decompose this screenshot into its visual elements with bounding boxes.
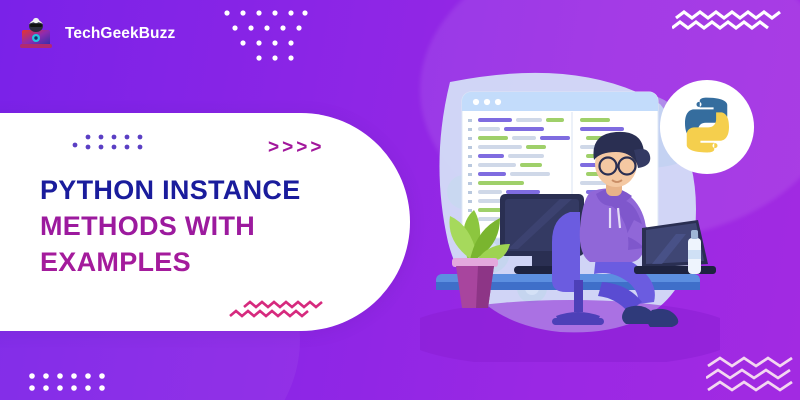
page-title: PYTHON INSTANCE METHODS WITH EXAMPLES xyxy=(40,172,390,280)
wave-under-title xyxy=(228,300,330,324)
pixel-laptop-logo-icon xyxy=(18,17,54,51)
title-line-3: EXAMPLES xyxy=(40,244,390,280)
dot-grid-bottom-left xyxy=(28,372,106,394)
zigzag-bottom-right xyxy=(706,356,800,398)
title-line-1: PYTHON INSTANCE xyxy=(40,172,390,208)
chevron-right-icon: > xyxy=(282,138,293,157)
zigzag-top-right xyxy=(672,10,790,40)
laptop xyxy=(634,220,716,274)
title-line-2: METHODS WITH xyxy=(40,208,390,244)
chevron-right-icon: > xyxy=(310,138,321,157)
article-banner: > > > > PYTHON INSTANCE METHODS WITH EXA… xyxy=(0,0,800,400)
dot-grid-card xyxy=(72,133,144,153)
chevron-row: > > > > xyxy=(268,138,321,157)
chevron-right-icon: > xyxy=(268,138,279,157)
python-logo-badge xyxy=(658,78,756,176)
chevron-right-icon: > xyxy=(296,138,307,157)
brand-name: TechGeekBuzz xyxy=(65,25,175,43)
brand-logo[interactable]: TechGeekBuzz xyxy=(18,17,175,51)
dot-grid-top xyxy=(222,8,308,64)
